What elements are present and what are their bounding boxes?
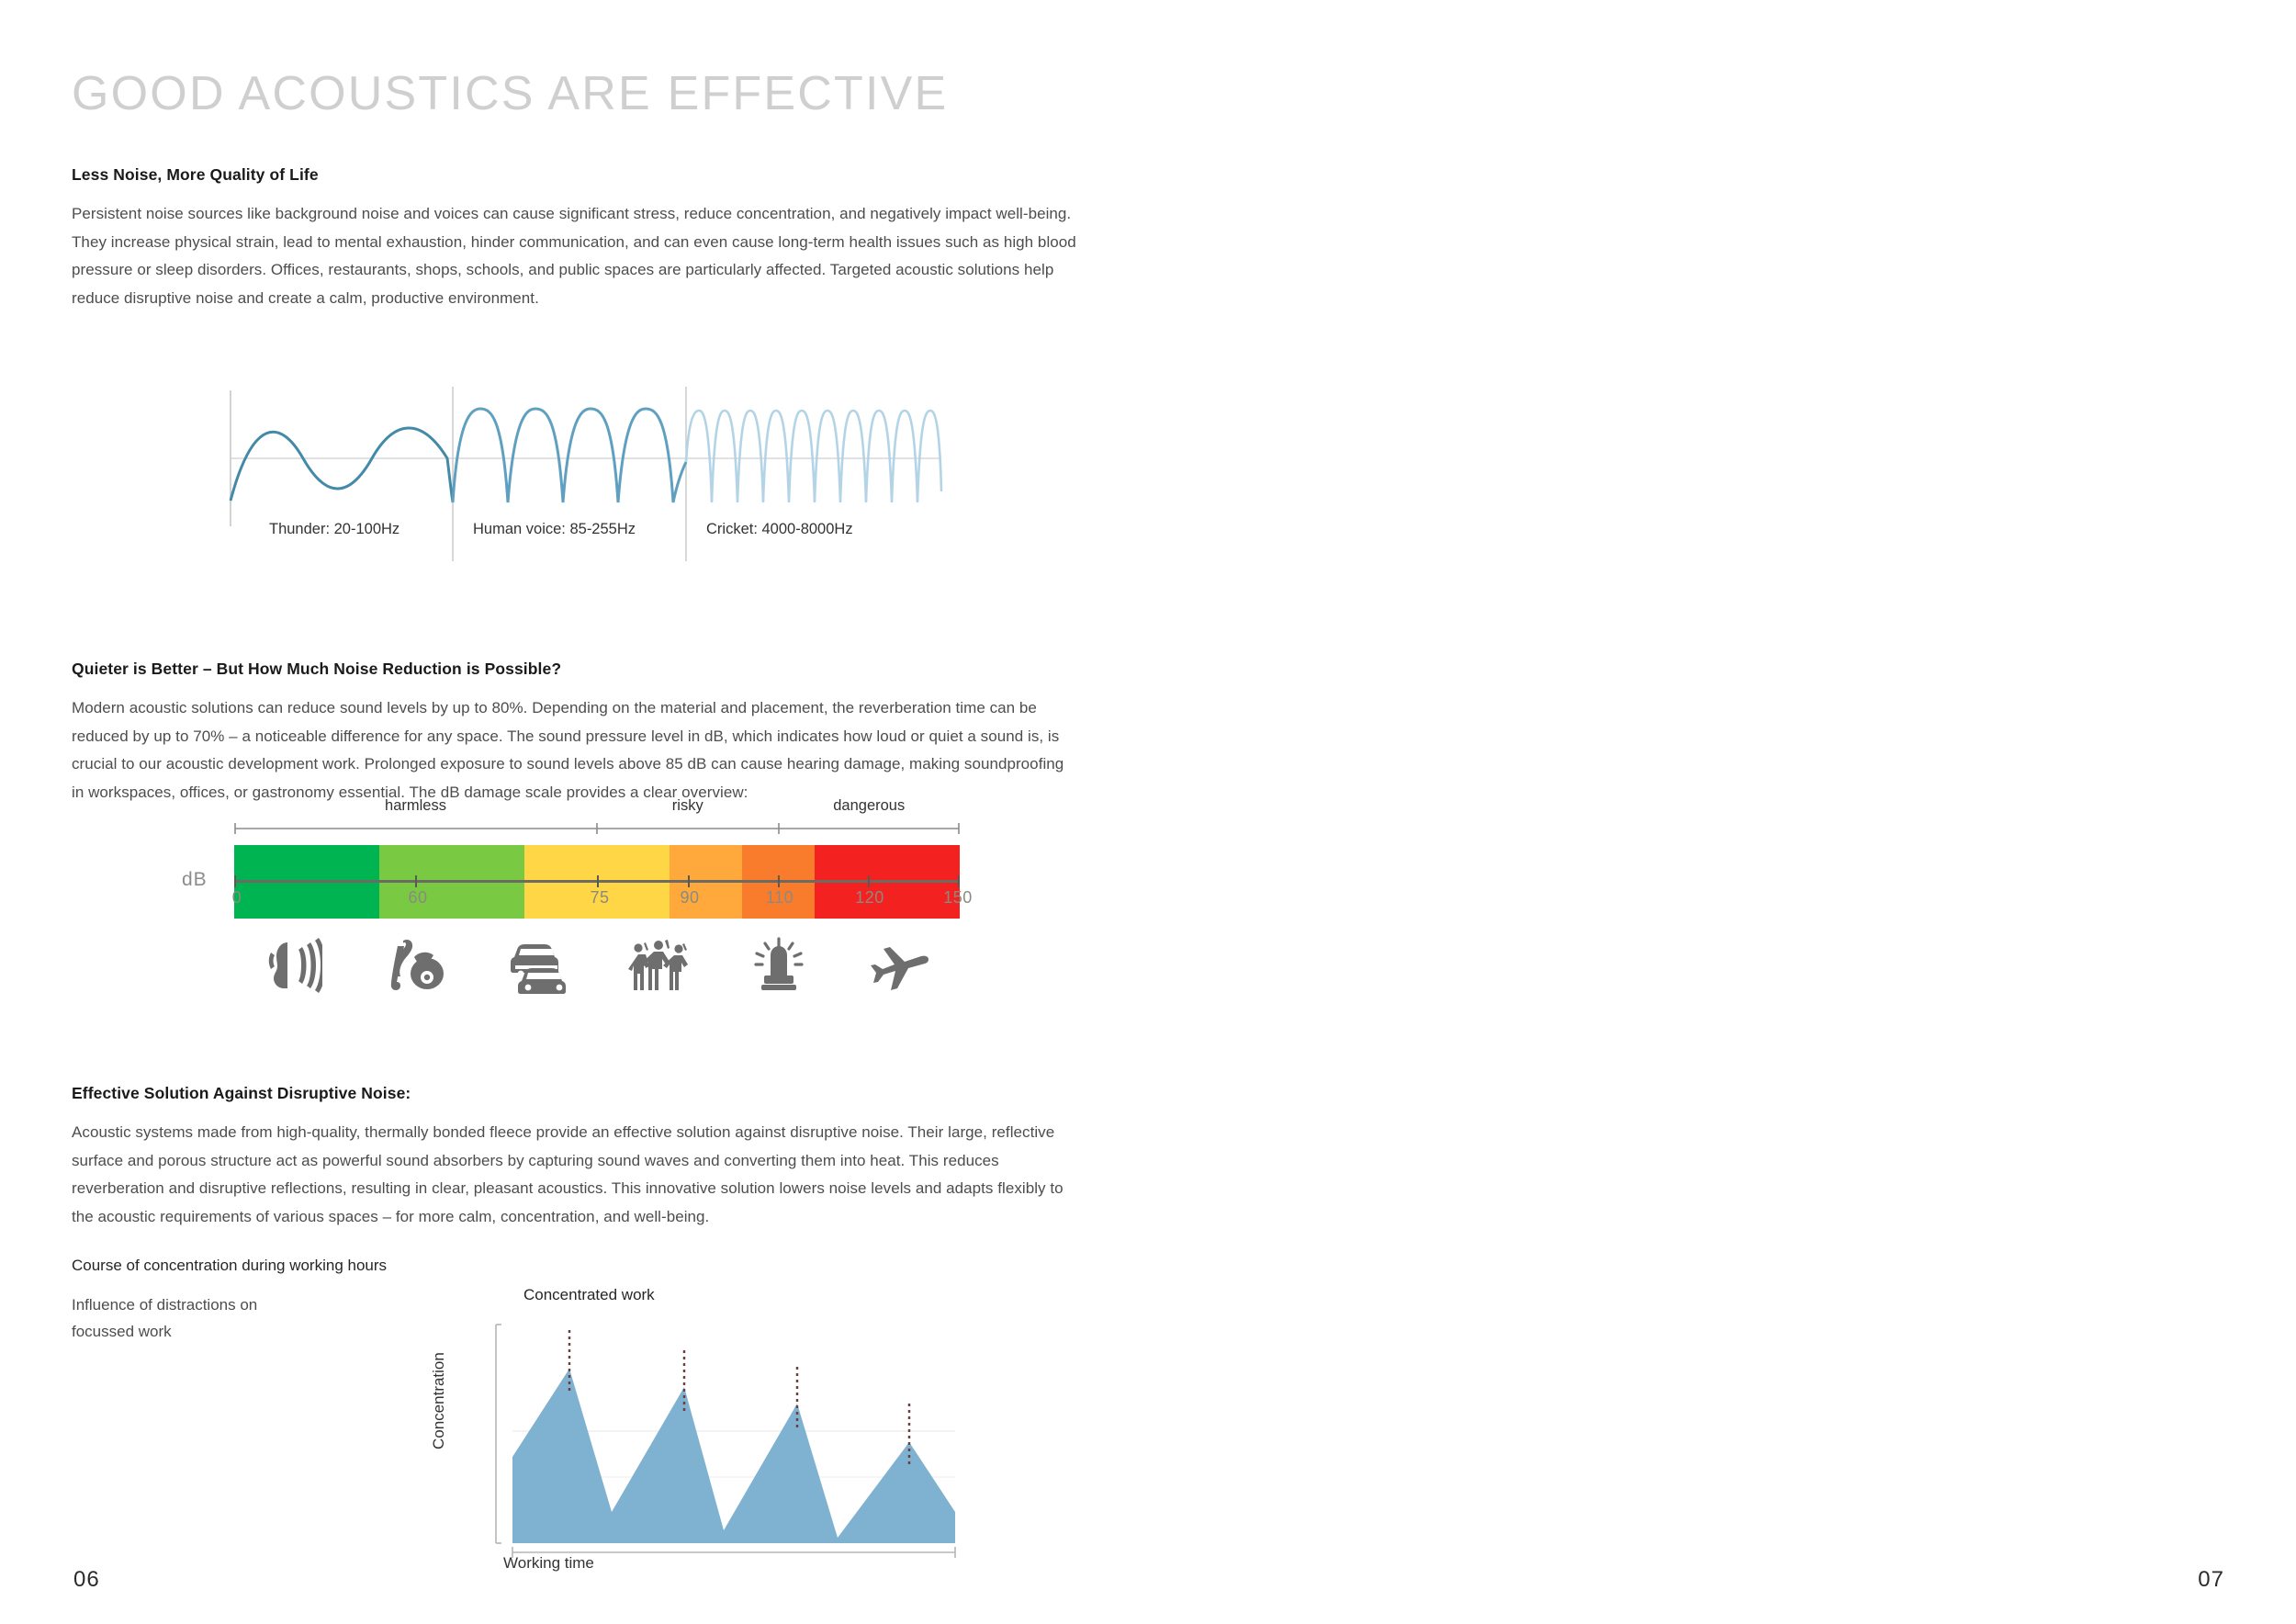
db-tick-120 xyxy=(868,875,870,887)
section-body-less-noise: Persistent noise sources like background… xyxy=(72,200,1086,312)
left-page: GOOD ACOUSTICS ARE EFFECTIVE Less Noise,… xyxy=(0,0,1166,1624)
right-page: Absorber Sound absorbers reduce sound in… xyxy=(1166,0,2296,1624)
section-body-quieter: Modern acoustic solutions can reduce sou… xyxy=(72,694,1077,806)
concentration-chart-title: Concentrated work xyxy=(523,1286,655,1304)
db-zone-risky: risky xyxy=(672,797,703,815)
waveform-legend: Thunder: 20-100Hz Human voice: 85-255Hz … xyxy=(216,521,951,558)
db-source-icons xyxy=(234,926,960,1005)
db-ticklabel-90: 90 xyxy=(680,888,699,908)
waveform-label-human-voice: Human voice: 85-255Hz xyxy=(473,521,636,538)
magazine-spread: GOOD ACOUSTICS ARE EFFECTIVE Less Noise,… xyxy=(0,0,2296,1624)
db-tick-75 xyxy=(597,875,599,887)
section-less-noise: Less Noise, More Quality of Life Persist… xyxy=(72,165,1086,312)
section-body-effective: Acoustic systems made from high-quality,… xyxy=(72,1119,1077,1231)
page-number-left: 06 xyxy=(73,1567,100,1593)
db-tick-90 xyxy=(688,875,690,887)
section-heading-quieter: Quieter is Better – But How Much Noise R… xyxy=(72,660,1077,679)
concentration-svg xyxy=(441,1303,992,1578)
section-effective-solution: Effective Solution Against Disruptive No… xyxy=(72,1084,1077,1231)
cars-traffic-icon xyxy=(476,926,597,1005)
section-heading-effective: Effective Solution Against Disruptive No… xyxy=(72,1084,1077,1103)
course-heading: Course of concentration during working h… xyxy=(72,1257,549,1275)
db-damage-scale-chart: dB harmless risky dangerous xyxy=(138,797,974,1022)
section-heading-less-noise: Less Noise, More Quality of Life xyxy=(72,165,1086,185)
vacuum-cleaner-icon xyxy=(355,926,477,1005)
page-number-right: 07 xyxy=(2198,1567,2224,1593)
db-zone-axis xyxy=(234,821,960,836)
db-tick-110 xyxy=(778,875,780,887)
db-zone-labels: harmless risky dangerous xyxy=(234,797,960,821)
concentration-chart: Concentrated work Concentration Working … xyxy=(441,1286,992,1580)
db-axis-label: dB xyxy=(182,869,208,891)
waveform-label-cricket: Cricket: 4000-8000Hz xyxy=(706,521,853,538)
db-ticklabel-75: 75 xyxy=(590,888,609,908)
db-zone-harmless: harmless xyxy=(385,797,446,815)
db-ticklabel-150: 150 xyxy=(943,888,973,908)
db-ticklabel-110: 110 xyxy=(766,888,793,908)
db-tick-0 xyxy=(234,875,236,887)
db-ticklabel-60: 60 xyxy=(408,888,427,908)
frequency-waveform-chart: Thunder: 20-100Hz Human voice: 85-255Hz … xyxy=(216,381,951,570)
db-ticklabel-120: 120 xyxy=(855,888,884,908)
waveform-label-thunder: Thunder: 20-100Hz xyxy=(269,521,400,538)
airplane-icon xyxy=(838,926,960,1005)
db-zone-dangerous: dangerous xyxy=(833,797,905,815)
db-ticklabel-0: 0 xyxy=(232,888,242,908)
concert-crowd-icon xyxy=(597,926,718,1005)
speaking-person-icon xyxy=(234,926,355,1005)
db-tick-150 xyxy=(958,875,960,887)
siren-icon xyxy=(718,926,839,1005)
db-tick-60 xyxy=(415,875,417,887)
page-title: GOOD ACOUSTICS ARE EFFECTIVE xyxy=(72,66,948,121)
section-quieter-is-better: Quieter is Better – But How Much Noise R… xyxy=(72,660,1077,806)
